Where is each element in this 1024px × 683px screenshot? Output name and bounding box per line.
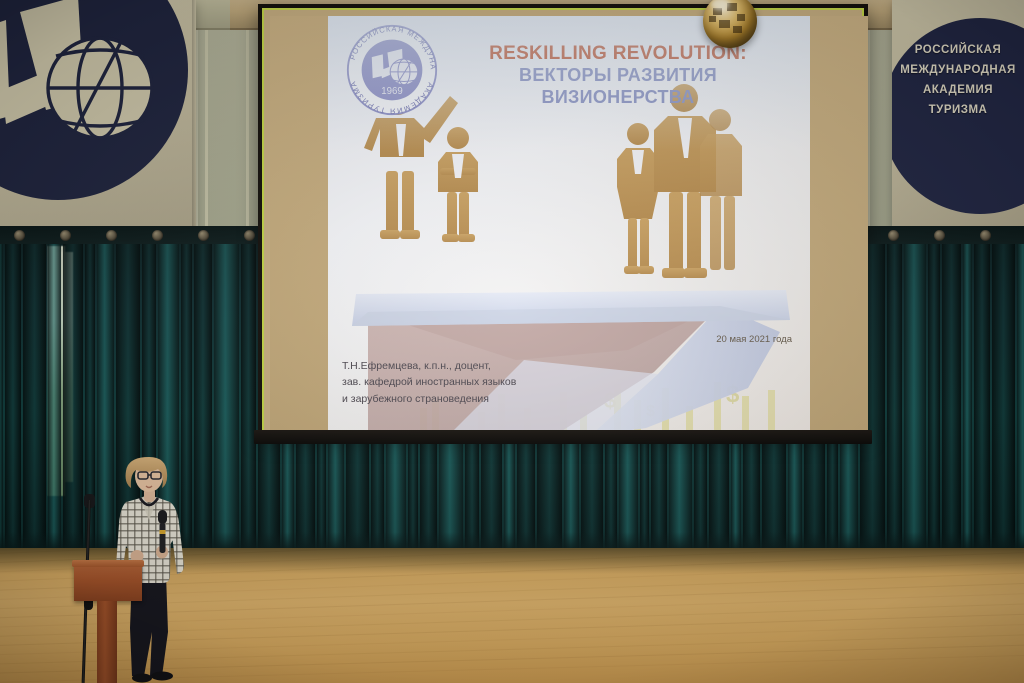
rmat-seal-icon: РОССИЙСКАЯ МЕЖДУНАРОДНАЯ АКАДЕМИЯ ТУРИЗМ… xyxy=(346,24,438,116)
curtain-pleat xyxy=(928,226,940,566)
business-people-silhouettes-icon xyxy=(617,84,742,278)
shoe xyxy=(151,672,173,681)
screen-edge-glow: $ $ $ xyxy=(262,8,864,432)
curtain-grommet xyxy=(14,230,25,241)
lectern-top xyxy=(74,563,142,601)
rmat-monogram-icon xyxy=(0,0,188,200)
curtain-grommet xyxy=(60,230,71,241)
screen-bottom-bar xyxy=(254,430,872,444)
rmat-monogram-banner xyxy=(0,0,196,228)
slide-author-line-2: зав. кафедрой иностранных языков xyxy=(342,374,516,390)
curtain-pleat xyxy=(194,226,212,566)
slide-author-line-3: и зарубежного страноведения xyxy=(342,391,516,407)
curtain-pleat xyxy=(904,226,926,566)
curtain-pleat xyxy=(214,226,239,566)
wall-trim xyxy=(246,0,249,240)
curtain-pleat xyxy=(0,226,3,566)
curtain-pleat xyxy=(241,226,256,566)
banner-text-block: РОССИЙСКАЯ МЕЖДУНАРОДНАЯ АКАДЕМИЯ ТУРИЗМ… xyxy=(892,40,1024,121)
curtain-grommet xyxy=(244,230,255,241)
curtain-grommet xyxy=(106,230,117,241)
slide-author-line-1: Т.Н.Ефремцева, к.п.н., доцент, xyxy=(342,358,516,374)
curtain-pleat xyxy=(23,226,46,566)
wooden-lectern xyxy=(74,563,142,683)
curtain-pleat xyxy=(48,226,61,566)
curtain-grommet xyxy=(888,230,899,241)
conference-photo: РОССИЙСКАЯ МЕЖДУНАРОДНАЯ АКАДЕМИЯ ТУРИЗМ… xyxy=(0,0,1024,683)
rmat-text-banner: РОССИЙСКАЯ МЕЖДУНАРОДНАЯ АКАДЕМИЯ ТУРИЗМ… xyxy=(892,0,1024,232)
curtain-pleat xyxy=(1017,226,1024,566)
wall-trim xyxy=(205,0,208,240)
curtain-grommet xyxy=(152,230,163,241)
slide-date: 20 мая 2021 года xyxy=(716,334,792,345)
banner-edge xyxy=(192,0,196,228)
screen-surface: $ $ $ xyxy=(270,16,868,436)
curtain-pleat xyxy=(974,226,990,566)
podium-platform-icon xyxy=(352,290,790,326)
banner-line-3: АКАДЕМИЯ xyxy=(892,80,1024,100)
letterbox-band-right xyxy=(810,16,868,436)
curtain-pleat xyxy=(963,226,972,566)
curtain-grommet xyxy=(980,230,991,241)
curtain-pleat xyxy=(942,226,961,566)
curtain-pleat xyxy=(5,226,21,566)
curtain-grommet xyxy=(198,230,209,241)
presentation-slide: $ $ $ xyxy=(328,16,810,436)
banner-line-1: РОССИЙСКАЯ xyxy=(892,40,1024,60)
banner-line-2: МЕЖДУНАРОДНАЯ xyxy=(892,60,1024,80)
letterbox-band-left xyxy=(270,16,328,436)
projection-screen: $ $ $ xyxy=(258,4,868,436)
slide-title: RESKILLING REVOLUTION: ВЕКТОРЫ РАЗВИТИЯ … xyxy=(438,42,798,109)
slide-title-en: RESKILLING REVOLUTION: xyxy=(438,42,798,65)
curtain-pleat xyxy=(63,226,83,566)
svg-text:1969: 1969 xyxy=(381,86,402,97)
slide-title-ru-2: ВИЗИОНЕРСТВА xyxy=(438,87,798,109)
lectern-lip xyxy=(72,560,144,567)
slide-author-block: Т.Н.Ефремцева, к.п.н., доцент, зав. кафе… xyxy=(342,358,516,407)
slide-title-ru-1: ВЕКТОРЫ РАЗВИТИЯ xyxy=(438,65,798,87)
curtain-grommet xyxy=(934,230,945,241)
banner-line-4: ТУРИЗМА xyxy=(892,100,1024,120)
lectern-stem xyxy=(97,601,117,683)
curtain-pleat xyxy=(992,226,1015,566)
curtain-pleat xyxy=(887,226,902,566)
